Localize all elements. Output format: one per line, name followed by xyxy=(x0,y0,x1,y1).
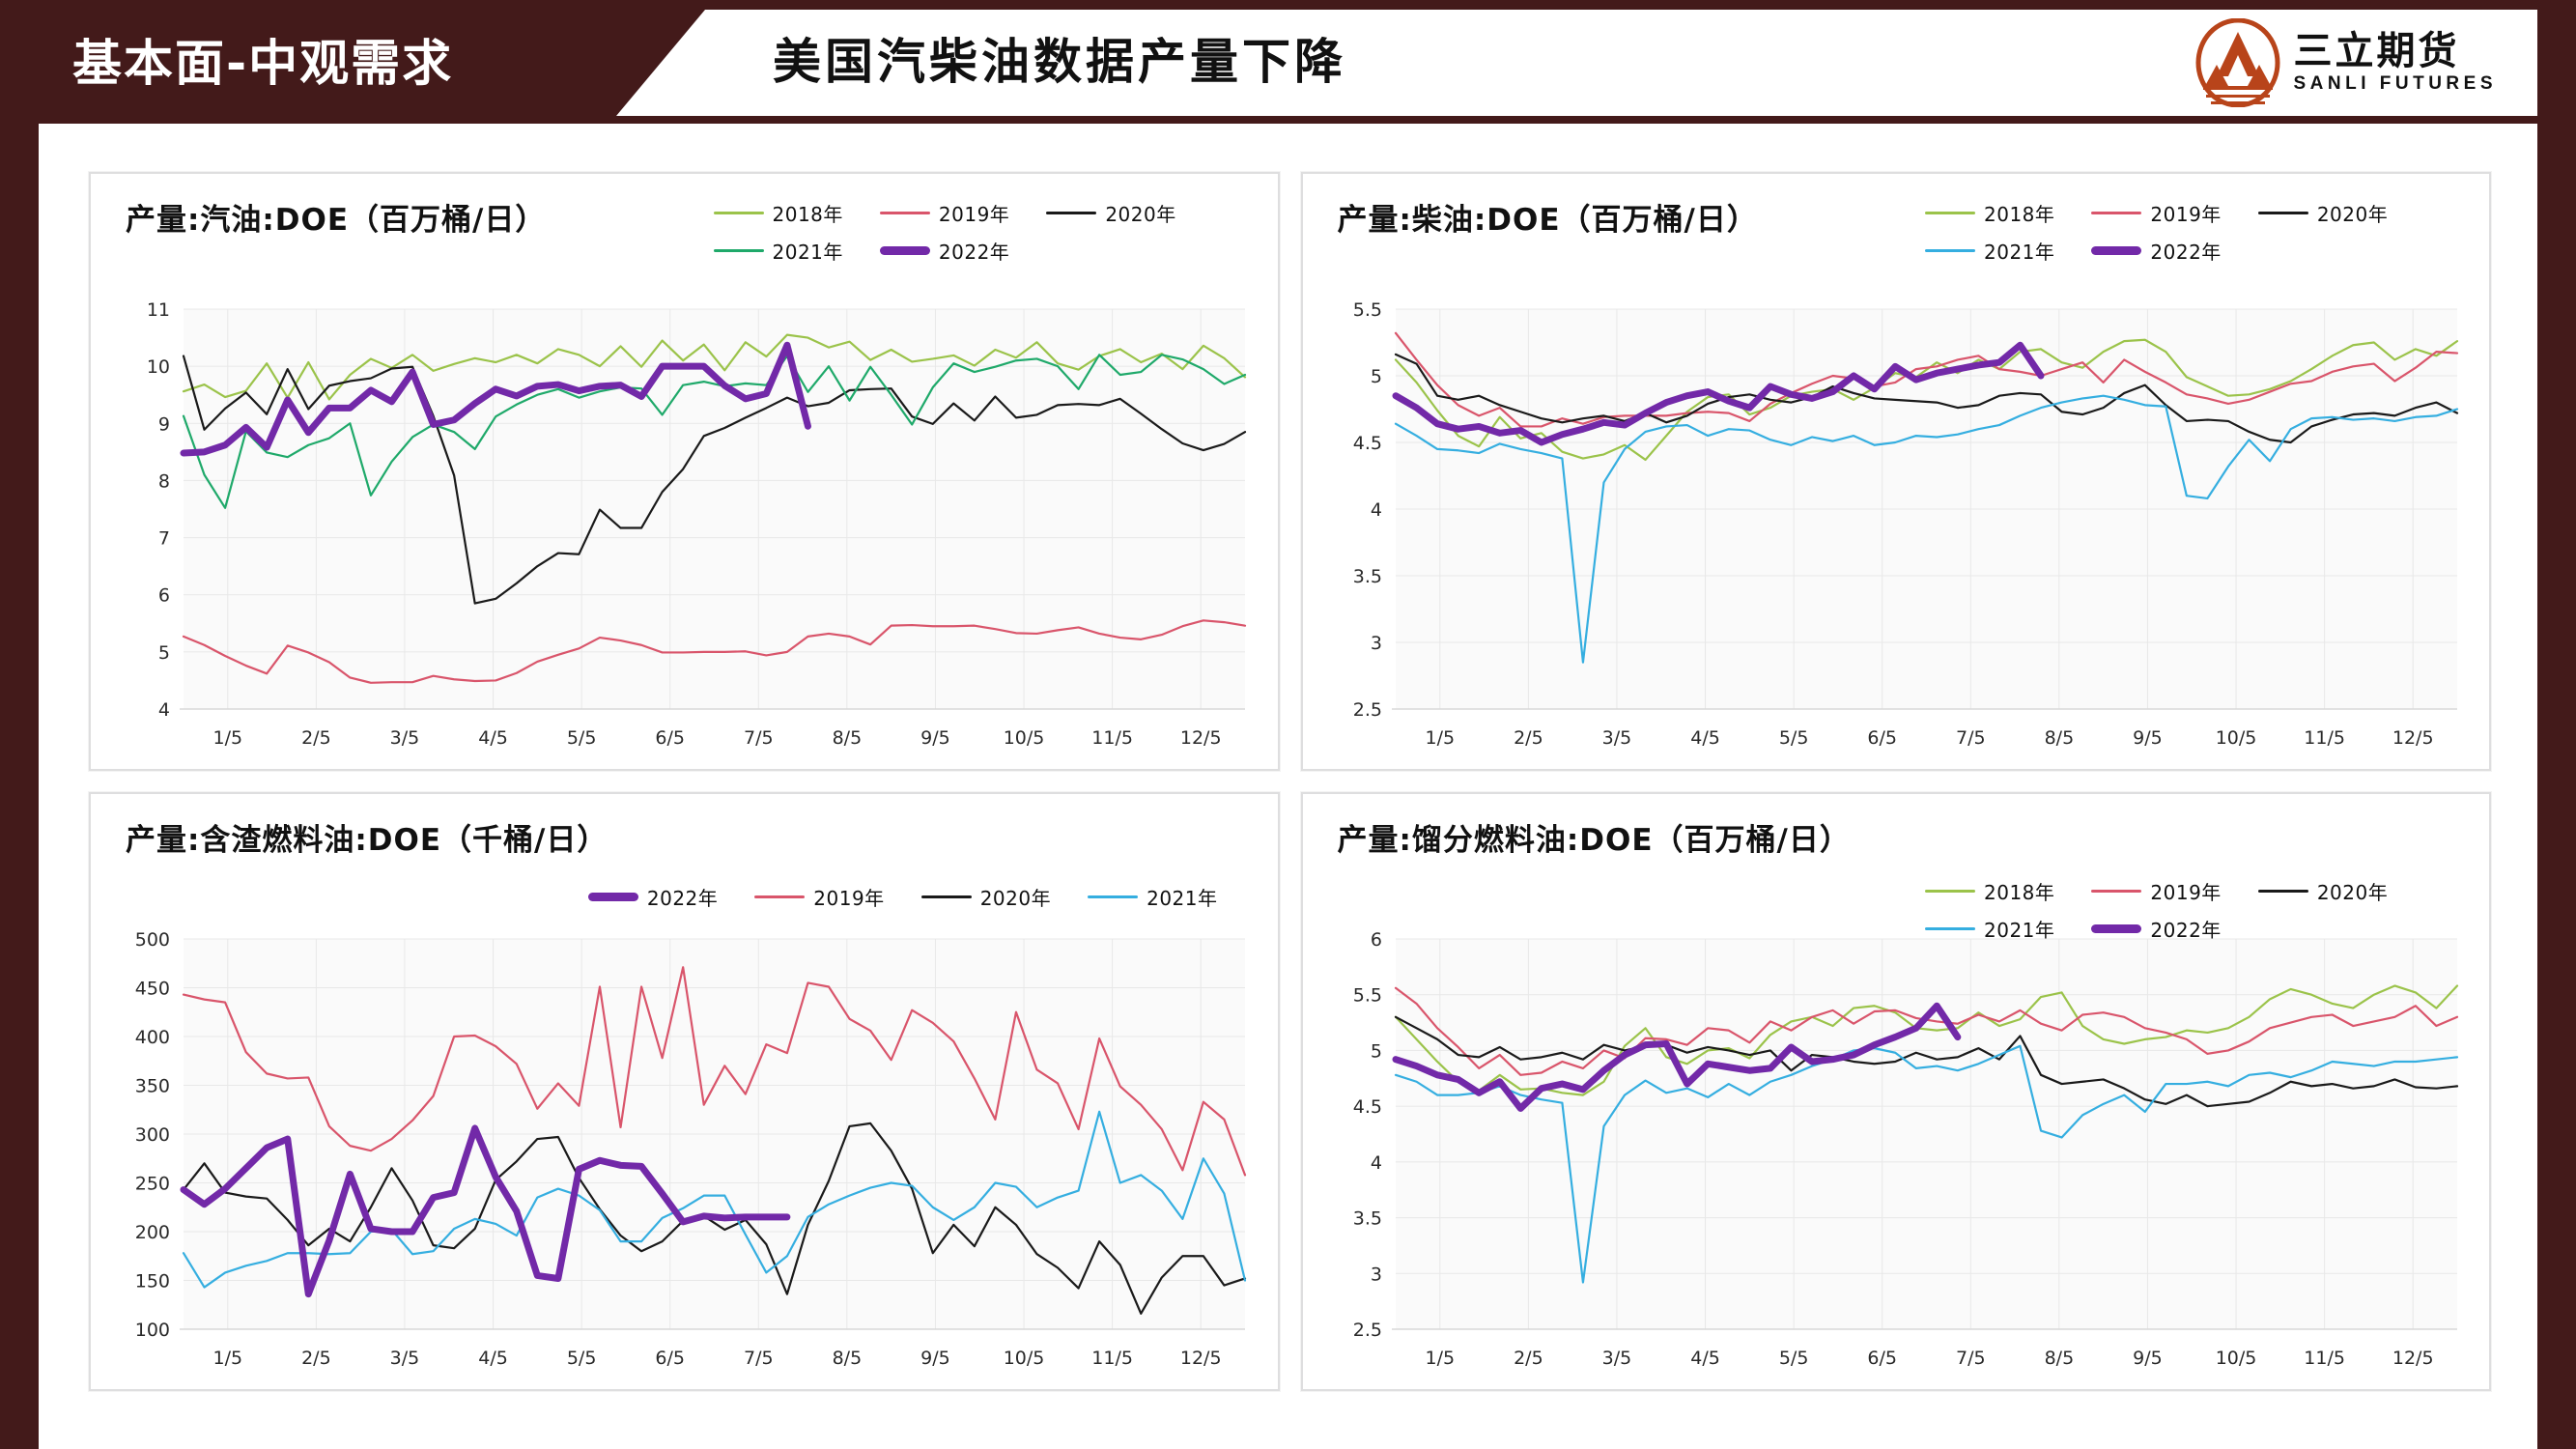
x-axis-tick-label: 1/5 xyxy=(1425,727,1455,749)
y-axis-tick-label: 3 xyxy=(1370,633,1381,654)
x-axis-tick-label: 10/5 xyxy=(1004,1348,1045,1369)
x-axis-tick-label: 10/5 xyxy=(2215,1348,2256,1369)
y-axis-tick-label: 6 xyxy=(1370,929,1381,951)
x-axis-tick-label: 11/5 xyxy=(1091,1348,1133,1369)
x-axis-tick-label: 1/5 xyxy=(1425,1348,1455,1369)
x-axis-tick-label: 11/5 xyxy=(1091,727,1133,749)
brand-name-en: SANLI FUTURES xyxy=(2294,72,2498,96)
x-axis-tick-label: 9/5 xyxy=(2133,1348,2163,1369)
y-axis-tick-label: 5.5 xyxy=(1352,985,1381,1007)
x-axis-tick-label: 3/5 xyxy=(1601,727,1631,749)
y-axis-tick-label: 4.5 xyxy=(1352,1096,1381,1118)
x-axis-tick-label: 3/5 xyxy=(390,1348,420,1369)
x-axis-tick-label: 9/5 xyxy=(920,1348,950,1369)
sanli-mountain-logo-icon xyxy=(2195,18,2280,107)
x-axis-tick-label: 3/5 xyxy=(390,727,420,749)
y-axis-tick-label: 100 xyxy=(135,1320,170,1341)
plot-background xyxy=(184,309,1245,709)
chart-plot: 45678910111/52/53/54/55/56/57/58/59/510/… xyxy=(91,174,1278,769)
brand-name-cn: 三立期货 xyxy=(2294,30,2498,72)
brand-logo-text: 三立期货 SANLI FUTURES xyxy=(2294,30,2498,96)
x-axis-tick-label: 4/5 xyxy=(1690,727,1720,749)
y-axis-tick-label: 9 xyxy=(158,413,170,435)
x-axis-tick-label: 6/5 xyxy=(1867,1348,1897,1369)
chart-plot: 2.533.544.555.51/52/53/54/55/56/57/58/59… xyxy=(1303,174,2490,769)
x-axis-tick-label: 6/5 xyxy=(655,1348,685,1369)
x-axis-tick-label: 8/5 xyxy=(2044,727,2074,749)
y-axis-tick-label: 10 xyxy=(147,356,170,378)
x-axis-tick-label: 5/5 xyxy=(567,1348,597,1369)
slide-header: 基本面-中观需求 美国汽柴油数据产量下降 三立期货 SANLI FUTURES xyxy=(39,0,2537,124)
x-axis-tick-label: 2/5 xyxy=(301,727,331,749)
x-axis-tick-label: 4/5 xyxy=(1690,1348,1720,1369)
chart-panel-distillate-fuel-oil: 产量:馏分燃料油:DOE（百万桶/日）2018年2019年2020年2021年2… xyxy=(1301,792,2492,1391)
y-axis-tick-label: 300 xyxy=(135,1124,170,1146)
x-axis-tick-label: 1/5 xyxy=(213,1348,243,1369)
y-axis-tick-label: 150 xyxy=(135,1271,170,1293)
x-axis-tick-label: 12/5 xyxy=(2392,1348,2433,1369)
x-axis-tick-label: 11/5 xyxy=(2304,1348,2345,1369)
x-axis-tick-label: 1/5 xyxy=(213,727,243,749)
header-section-tag: 基本面-中观需求 xyxy=(72,31,575,99)
brand-logo: 三立期货 SANLI FUTURES xyxy=(2195,15,2498,110)
y-axis-tick-label: 4 xyxy=(1370,1152,1381,1174)
x-axis-tick-label: 8/5 xyxy=(2044,1348,2074,1369)
x-axis-tick-label: 3/5 xyxy=(1601,1348,1631,1369)
x-axis-tick-label: 7/5 xyxy=(744,1348,774,1369)
x-axis-tick-label: 8/5 xyxy=(833,1348,863,1369)
chart-panel-residual-fuel-oil: 产量:含渣燃料油:DOE（千桶/日）2022年2019年2020年2021年10… xyxy=(89,792,1280,1391)
x-axis-tick-label: 9/5 xyxy=(2133,727,2163,749)
y-axis-tick-label: 5.5 xyxy=(1352,299,1381,321)
x-axis-tick-label: 7/5 xyxy=(1956,727,1986,749)
y-axis-tick-label: 250 xyxy=(135,1174,170,1195)
y-axis-tick-label: 3.5 xyxy=(1352,566,1381,587)
y-axis-tick-label: 450 xyxy=(135,979,170,1000)
chart-panel-diesel: 产量:柴油:DOE（百万桶/日）2018年2019年2020年2021年2022… xyxy=(1301,172,2492,771)
x-axis-tick-label: 11/5 xyxy=(2304,727,2345,749)
y-axis-tick-label: 11 xyxy=(147,299,170,321)
y-axis-tick-label: 5 xyxy=(158,642,170,664)
y-axis-tick-label: 2.5 xyxy=(1352,1320,1381,1341)
x-axis-tick-label: 6/5 xyxy=(1867,727,1897,749)
x-axis-tick-label: 4/5 xyxy=(478,1348,508,1369)
y-axis-tick-label: 200 xyxy=(135,1222,170,1243)
x-axis-tick-label: 2/5 xyxy=(1514,1348,1543,1369)
x-axis-tick-label: 6/5 xyxy=(655,727,685,749)
y-axis-tick-label: 400 xyxy=(135,1027,170,1048)
y-axis-tick-label: 4.5 xyxy=(1352,433,1381,454)
x-axis-tick-label: 12/5 xyxy=(1180,1348,1222,1369)
x-axis-tick-label: 9/5 xyxy=(920,727,950,749)
y-axis-tick-label: 6 xyxy=(158,585,170,607)
chart-plot: 1001502002503003504004505001/52/53/54/55… xyxy=(91,794,1278,1389)
x-axis-tick-label: 2/5 xyxy=(1514,727,1543,749)
y-axis-tick-label: 7 xyxy=(158,528,170,550)
y-axis-tick-label: 4 xyxy=(1370,499,1381,521)
y-axis-tick-label: 3.5 xyxy=(1352,1208,1381,1230)
slide-root: 基本面-中观需求 美国汽柴油数据产量下降 三立期货 SANLI FUTURES … xyxy=(0,0,2576,1449)
chart-plot: 2.533.544.555.561/52/53/54/55/56/57/58/5… xyxy=(1303,794,2490,1389)
y-axis-tick-label: 500 xyxy=(135,929,170,951)
x-axis-tick-label: 10/5 xyxy=(1004,727,1045,749)
x-axis-tick-label: 10/5 xyxy=(2215,727,2256,749)
y-axis-tick-label: 4 xyxy=(158,699,170,721)
y-axis-tick-label: 5 xyxy=(1370,1040,1381,1062)
x-axis-tick-label: 2/5 xyxy=(301,1348,331,1369)
x-axis-tick-label: 7/5 xyxy=(1956,1348,1986,1369)
x-axis-tick-label: 4/5 xyxy=(478,727,508,749)
x-axis-tick-label: 8/5 xyxy=(833,727,863,749)
chart-panel-gasoline: 产量:汽油:DOE（百万桶/日）2018年2019年2020年2021年2022… xyxy=(89,172,1280,771)
charts-grid: 产量:汽油:DOE（百万桶/日）2018年2019年2020年2021年2022… xyxy=(89,172,2491,1391)
x-axis-tick-label: 5/5 xyxy=(1778,1348,1808,1369)
x-axis-tick-label: 7/5 xyxy=(744,727,774,749)
plot-background xyxy=(1396,939,2457,1329)
y-axis-tick-label: 5 xyxy=(1370,366,1381,387)
x-axis-tick-label: 5/5 xyxy=(1778,727,1808,749)
x-axis-tick-label: 5/5 xyxy=(567,727,597,749)
slide-body: 产量:汽油:DOE（百万桶/日）2018年2019年2020年2021年2022… xyxy=(39,124,2537,1449)
y-axis-tick-label: 3 xyxy=(1370,1264,1381,1285)
x-axis-tick-label: 12/5 xyxy=(1180,727,1222,749)
page-title: 美国汽柴油数据产量下降 xyxy=(773,27,1346,97)
y-axis-tick-label: 2.5 xyxy=(1352,699,1381,721)
y-axis-tick-label: 350 xyxy=(135,1076,170,1097)
x-axis-tick-label: 12/5 xyxy=(2392,727,2433,749)
y-axis-tick-label: 8 xyxy=(158,470,170,492)
